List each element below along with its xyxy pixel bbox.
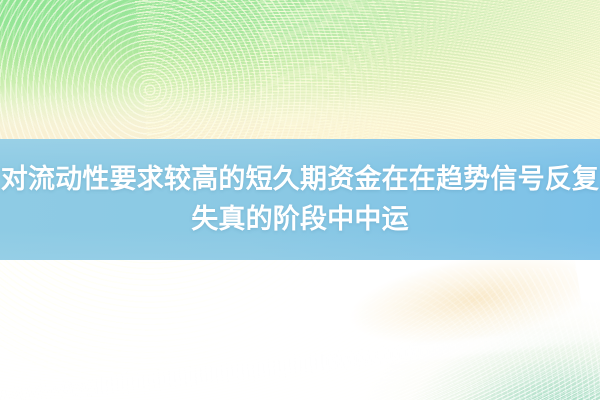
decorative-text-banner: 对流动性要求较高的短久期资金在在趋势信号反复 失真的阶段中中运 bbox=[0, 0, 600, 400]
band-sheen-overlay bbox=[0, 139, 600, 260]
headline-line-2: 失真的阶段中中运 bbox=[191, 201, 409, 239]
headline-band: 对流动性要求较高的短久期资金在在趋势信号反复 失真的阶段中中运 bbox=[0, 139, 600, 260]
headline-line-1: 对流动性要求较高的短久期资金在在趋势信号反复 bbox=[1, 161, 599, 199]
